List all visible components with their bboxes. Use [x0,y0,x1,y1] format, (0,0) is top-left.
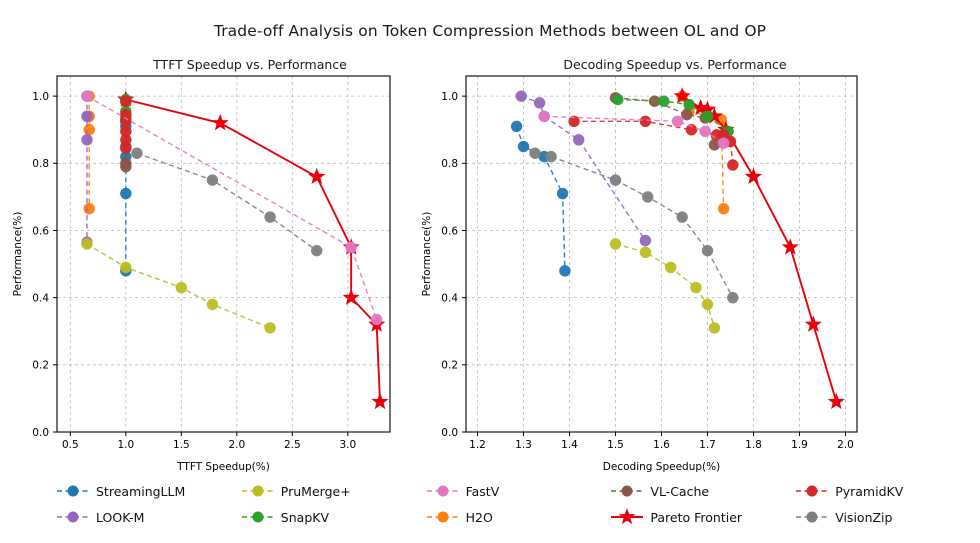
circle-marker-icon [56,509,90,525]
legend-label: LOOK-M [96,510,144,525]
legend-label: StreamingLLM [96,484,185,499]
svg-text:1.0: 1.0 [441,91,458,103]
legend-label: FastV [466,484,500,499]
legend-label: PyramidKV [835,484,903,499]
svg-text:Decoding Speedup(%): Decoding Speedup(%) [603,461,720,473]
circle-marker-icon [241,509,275,525]
legend-item-streamingllm[interactable]: StreamingLLM [56,478,241,504]
legend-item-fastv[interactable]: FastV [426,478,611,504]
legend-item-vl-cache[interactable]: VL-Cache [610,478,795,504]
svg-text:0.8: 0.8 [441,158,458,170]
svg-text:1.7: 1.7 [699,439,716,451]
legend-label: PruMerge+ [281,484,351,499]
legend-label: SnapKV [281,510,329,525]
legend-label: H2O [466,510,493,525]
circle-marker-icon [241,483,275,499]
legend-item-h2o[interactable]: H2O [426,504,611,530]
svg-text:0.2: 0.2 [441,360,458,372]
legend-label: VL-Cache [650,484,709,499]
legend-label: VisionZip [835,510,892,525]
star-marker-icon [610,509,644,525]
svg-text:Performance(%): Performance(%) [421,212,433,297]
svg-text:1.5: 1.5 [607,439,624,451]
svg-text:1.3: 1.3 [515,439,532,451]
svg-text:1.6: 1.6 [653,439,670,451]
scatter-plot-decoding: 1.21.31.41.51.61.71.81.92.00.00.20.40.60… [0,0,980,543]
svg-text:1.9: 1.9 [791,439,808,451]
legend-item-look-m[interactable]: LOOK-M [56,504,241,530]
legend-item-pareto-frontier[interactable]: Pareto Frontier [610,504,795,530]
svg-text:1.8: 1.8 [745,439,762,451]
figure-canvas: Trade-off Analysis on Token Compression … [0,0,980,543]
circle-marker-icon [795,483,829,499]
circle-marker-icon [426,509,460,525]
circle-marker-icon [610,483,644,499]
circle-marker-icon [795,509,829,525]
circle-marker-icon [426,483,460,499]
legend-item-visionzip[interactable]: VisionZip [795,504,980,530]
svg-text:1.4: 1.4 [561,439,578,451]
legend-item-pyramidkv[interactable]: PyramidKV [795,478,980,504]
chart-legend: StreamingLLMPruMerge+FastVVL-CachePyrami… [0,478,980,530]
legend-label: Pareto Frontier [650,510,742,525]
svg-text:0.0: 0.0 [441,427,458,439]
svg-text:1.2: 1.2 [469,439,486,451]
svg-text:0.4: 0.4 [441,292,458,304]
svg-text:0.6: 0.6 [441,225,458,237]
svg-text:2.0: 2.0 [837,439,854,451]
circle-marker-icon [56,483,90,499]
legend-item-snapkv[interactable]: SnapKV [241,504,426,530]
legend-item-prumerge-[interactable]: PruMerge+ [241,478,426,504]
